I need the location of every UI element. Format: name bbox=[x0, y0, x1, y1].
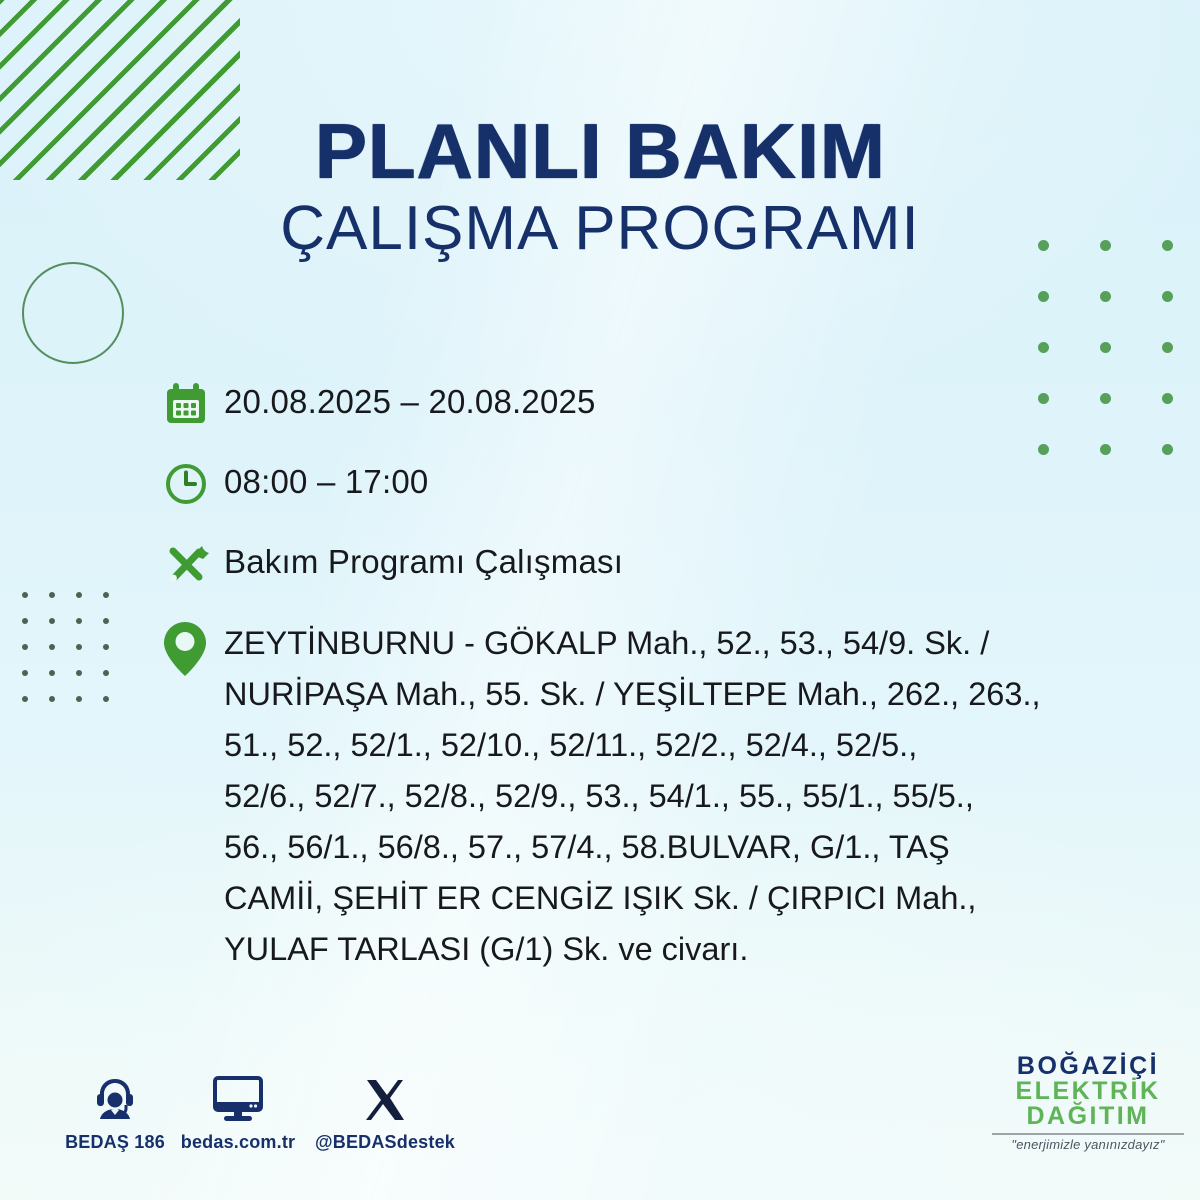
address-line: NURİPAŞA Mah., 55. Sk. / YEŞİLTEPE Mah.,… bbox=[224, 669, 1162, 720]
address-line: 56., 56/1., 56/8., 57., 57/4., 58.BULVAR… bbox=[224, 822, 1162, 873]
date-range-text: 20.08.2025 – 20.08.2025 bbox=[224, 378, 596, 424]
logo-line-elektrik: ELEKTRİK bbox=[990, 1079, 1186, 1104]
contact-x-item[interactable]: @BEDASdestek bbox=[290, 1062, 480, 1153]
address-line: 51., 52., 52/1., 52/10., 52/11., 52/2., … bbox=[224, 720, 1162, 771]
logo-divider bbox=[992, 1133, 1184, 1135]
clock-icon bbox=[162, 458, 224, 516]
time-range-text: 08:00 – 17:00 bbox=[224, 458, 428, 504]
poster-footer: BEDAŞ 186 bedas.com.tr @B bbox=[0, 1050, 1200, 1200]
logo-line-bogazici: BOĞAZİÇİ bbox=[990, 1054, 1186, 1079]
title-line-primary: PLANLI BAKIM bbox=[0, 108, 1200, 194]
title-line-secondary: ÇALIŞMA PROGRAMI bbox=[0, 192, 1200, 266]
tools-icon bbox=[162, 538, 224, 596]
planned-maintenance-poster: PLANLI BAKIM ÇALIŞMA PROGRAMI bbox=[0, 0, 1200, 1200]
contact-x-label: @BEDASdestek bbox=[290, 1132, 480, 1153]
circle-outline-decoration bbox=[22, 262, 124, 364]
info-row-date: 20.08.2025 – 20.08.2025 bbox=[162, 378, 1162, 436]
work-type-text: Bakım Programı Çalışması bbox=[224, 538, 623, 584]
location-pin-icon bbox=[162, 618, 224, 676]
poster-title: PLANLI BAKIM ÇALIŞMA PROGRAMI bbox=[0, 108, 1200, 266]
info-row-work: Bakım Programı Çalışması bbox=[162, 538, 1162, 596]
info-row-address: ZEYTİNBURNU - GÖKALP Mah., 52., 53., 54/… bbox=[162, 618, 1162, 975]
calendar-icon bbox=[162, 378, 224, 436]
info-row-time: 08:00 – 17:00 bbox=[162, 458, 1162, 516]
x-twitter-icon bbox=[290, 1062, 480, 1124]
info-rows: 20.08.2025 – 20.08.2025 08:00 – 17:00 bbox=[162, 378, 1162, 975]
dot-grid-left-decoration bbox=[22, 592, 130, 722]
address-line: CAMİİ, ŞEHİT ER CENGİZ IŞIK Sk. / ÇIRPIC… bbox=[224, 873, 1162, 924]
logo-line-dagitim: DAĞITIM bbox=[990, 1104, 1186, 1129]
address-line: ZEYTİNBURNU - GÖKALP Mah., 52., 53., 54/… bbox=[224, 618, 1162, 669]
address-line: YULAF TARLASI (G/1) Sk. ve civarı. bbox=[224, 924, 1162, 975]
address-line: 52/6., 52/7., 52/8., 52/9., 53., 54/1., … bbox=[224, 771, 1162, 822]
address-text: ZEYTİNBURNU - GÖKALP Mah., 52., 53., 54/… bbox=[224, 618, 1162, 975]
bedas-logo: BOĞAZİÇİ ELEKTRİK DAĞITIM "enerjimizle y… bbox=[990, 1054, 1186, 1151]
logo-tagline: "enerjimizle yanınızdayız" bbox=[990, 1138, 1186, 1151]
